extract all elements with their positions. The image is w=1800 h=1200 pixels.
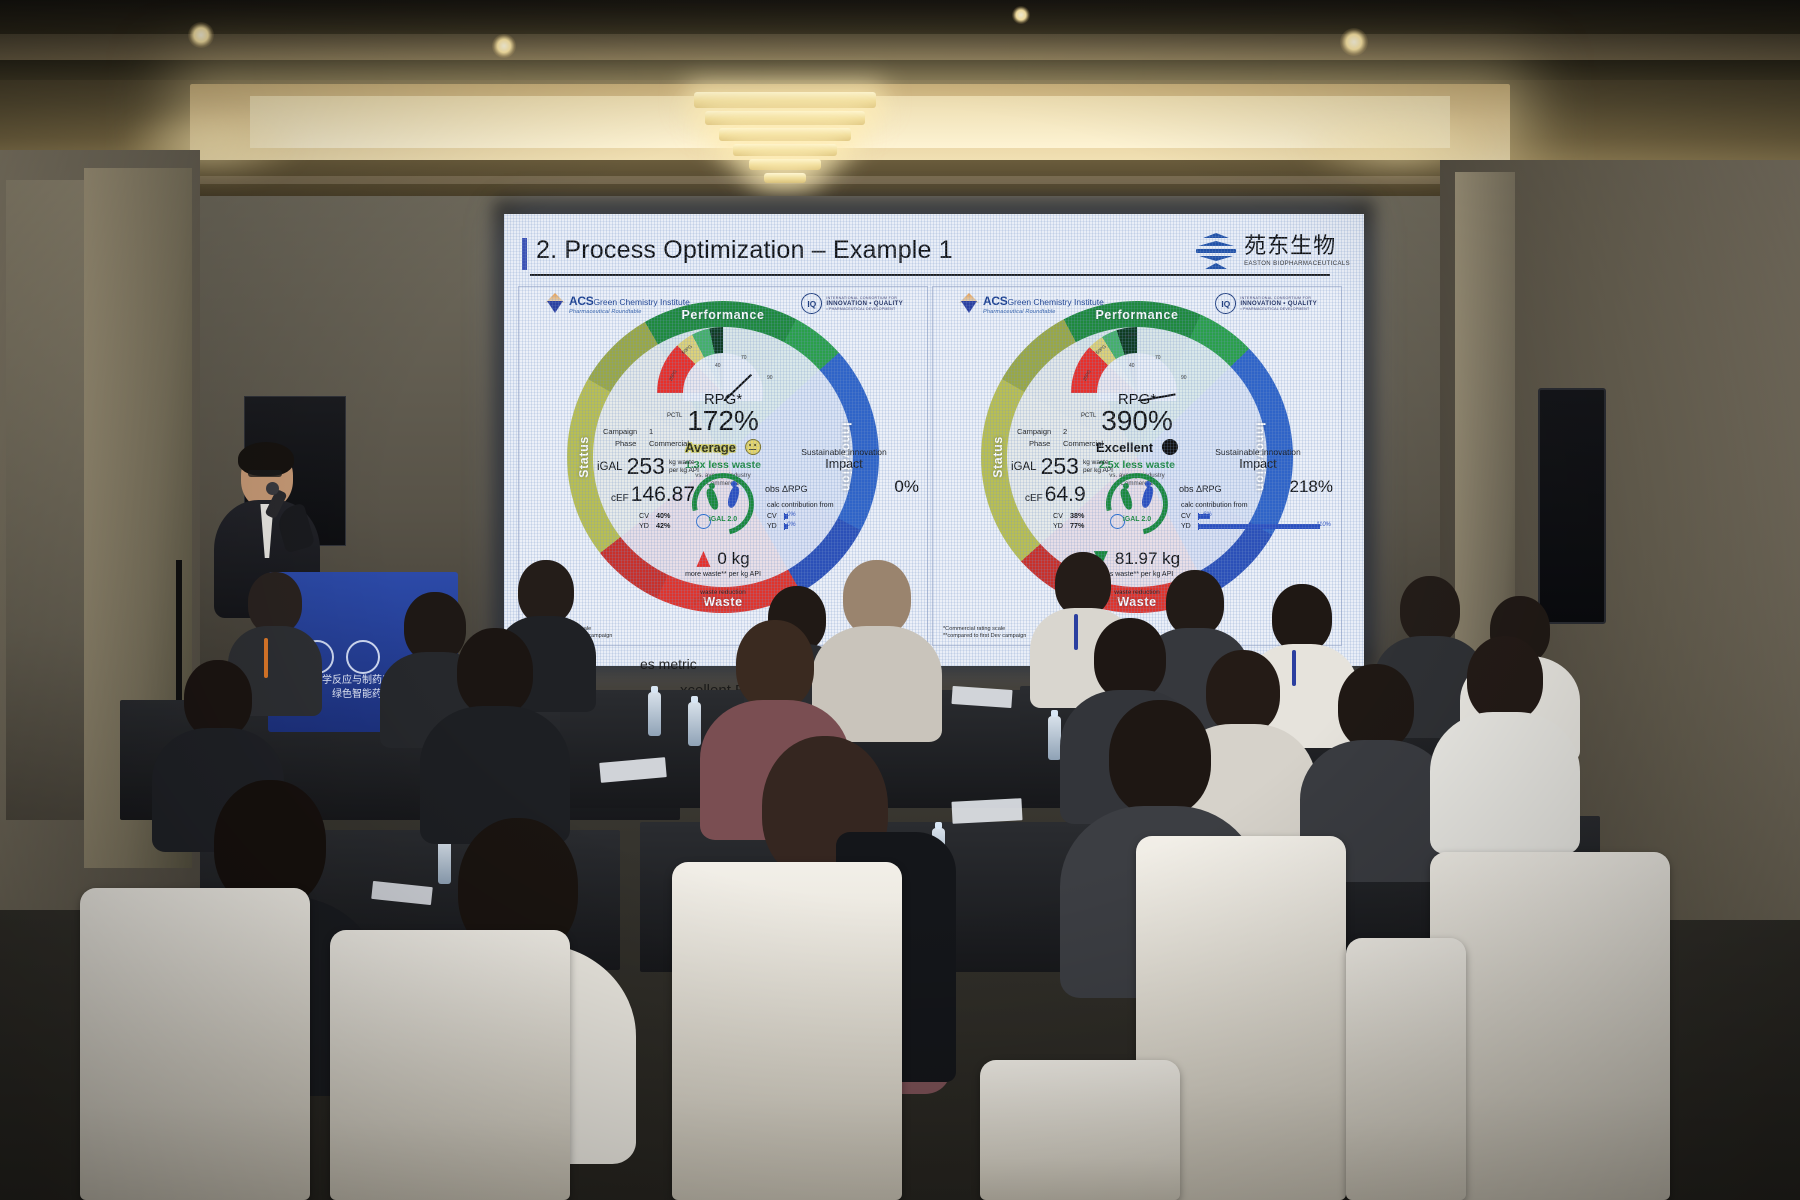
igal-2-0-logo: iGAL 2.0 bbox=[1106, 473, 1168, 535]
phase-value: Commercial bbox=[649, 439, 689, 448]
impact-title: Sustainable innovation Impact bbox=[1183, 447, 1333, 472]
waste-reduction: waste reduction 0% bbox=[695, 589, 752, 605]
cv-value: 38% bbox=[1070, 511, 1084, 520]
phase-label: Phase bbox=[1029, 439, 1050, 448]
acs-line1: ACS bbox=[983, 294, 1007, 308]
igal-metric: iGAL 253 kg waste per kg API bbox=[597, 455, 699, 478]
rpg-gauge: 25PG 50PG 75PG 40 70 90 bbox=[1071, 327, 1203, 401]
yd-value: 77% bbox=[1070, 521, 1084, 530]
company-name-en: EASTON BIOPHARMACEUTICALS bbox=[1244, 261, 1350, 267]
acs-line2: Green Chemistry Institute bbox=[1007, 297, 1103, 307]
gauge-number: 90 bbox=[1181, 375, 1187, 381]
igal-value: 253 bbox=[627, 455, 665, 478]
arrow-up-icon bbox=[696, 551, 710, 567]
ring-label-performance: Performance bbox=[681, 308, 764, 322]
campaign-label: Campaign bbox=[1017, 427, 1051, 436]
slide-overflow-text-1: es metric bbox=[640, 656, 697, 672]
side-monitor bbox=[1538, 388, 1606, 624]
iq-consortium-logo: IQ INTERNATIONAL CONSORTIUM FOR INNOVATI… bbox=[1215, 293, 1317, 314]
calc-yd-value: 110% bbox=[1316, 522, 1331, 528]
rpg-pctl-label: PCTL bbox=[1081, 413, 1096, 419]
cv-yd-metrics: CV 38% YD 77% bbox=[1053, 511, 1084, 532]
title-accent-bar bbox=[522, 238, 527, 270]
cef-label: cEF bbox=[1025, 493, 1043, 504]
rating-badge: Excellent bbox=[1096, 439, 1178, 455]
igal-unit-1: kg waste bbox=[669, 459, 695, 466]
impact-title-2: Impact bbox=[769, 457, 919, 472]
obs-drpg-value: 0% bbox=[894, 477, 919, 497]
presentation-room-photo: 2. Process Optimization – Example 1 苑东生物… bbox=[0, 0, 1800, 1200]
acs-gci-logo: ACSGreen Chemistry Institute Pharmaceuti… bbox=[959, 293, 1104, 316]
calc-yd-label: YD bbox=[1181, 523, 1195, 530]
acs-line3: Pharmaceutical Roundtable bbox=[569, 310, 690, 316]
calc-cv-label: CV bbox=[1181, 513, 1195, 520]
igal-metric: iGAL 253 kg waste per kg API bbox=[1011, 455, 1113, 478]
iq-consortium-logo: IQ INTERNATIONAL CONSORTIUM FOR INNOVATI… bbox=[801, 293, 903, 314]
water-bottle bbox=[648, 692, 661, 736]
impact-title-1: Sustainable innovation bbox=[769, 447, 919, 457]
ceiling-band bbox=[0, 60, 1800, 80]
footnote-2: **compared to first Dev campaign bbox=[943, 633, 1026, 641]
ceiling-spotlight bbox=[492, 34, 516, 58]
rpg-value: 172% bbox=[687, 405, 759, 437]
cv-yd-metrics: CV 40% YD 42% bbox=[639, 511, 670, 532]
slide-title: 2. Process Optimization – Example 1 bbox=[536, 236, 953, 265]
waste-reduction-label: waste reduction bbox=[695, 589, 752, 596]
calc-yd-value: 0% bbox=[787, 522, 796, 528]
ceiling-band bbox=[0, 34, 1800, 60]
cv-label: CV bbox=[1053, 511, 1068, 521]
audience-chair bbox=[672, 862, 902, 1200]
acs-diamond-icon bbox=[545, 293, 565, 313]
campaign-value: 1 bbox=[649, 427, 653, 436]
igal2-label: iGAL 2.0 bbox=[692, 516, 754, 523]
calc-header: calc contribution from bbox=[767, 501, 917, 510]
calc-cv-value: 0% bbox=[787, 512, 796, 518]
igal-2-0-logo: iGAL 2.0 bbox=[692, 473, 754, 535]
calc-cv-label: CV bbox=[767, 513, 781, 520]
impact-title-2: Impact bbox=[1183, 457, 1333, 472]
ceiling-spotlight bbox=[188, 22, 214, 48]
gauge-number: 90 bbox=[767, 375, 773, 381]
acs-line2: Green Chemistry Institute bbox=[593, 297, 689, 307]
igal2-label: iGAL 2.0 bbox=[1106, 516, 1168, 523]
audience-chair bbox=[80, 888, 310, 1200]
acs-gci-logo: ACSGreen Chemistry Institute Pharmaceuti… bbox=[545, 293, 690, 316]
ceiling-spotlight bbox=[1340, 28, 1368, 56]
cef-label: cEF bbox=[611, 493, 629, 504]
filled-circle-icon bbox=[1162, 439, 1178, 455]
iq-circle-icon: IQ bbox=[1215, 293, 1236, 314]
company-logo: 苑东生物 EASTON BIOPHARMACEUTICALS bbox=[1195, 230, 1350, 272]
audience-chair bbox=[1430, 852, 1670, 1200]
rpg-gauge: 25PG 50PG 75PG 40 70 90 bbox=[657, 327, 789, 401]
yd-value: 42% bbox=[656, 521, 670, 530]
waste-delta-value: 0 kg bbox=[717, 549, 749, 569]
waste-delta-sub: more waste** per kg API bbox=[685, 571, 761, 578]
igal-value: 253 bbox=[1041, 455, 1079, 478]
calc-cv-value: -6% bbox=[1201, 512, 1212, 518]
obs-drpg-value: 218% bbox=[1290, 477, 1333, 497]
ring-label-performance: Performance bbox=[1095, 308, 1178, 322]
footnote-1: *Commercial rating scale bbox=[943, 626, 1026, 634]
title-divider bbox=[530, 274, 1330, 276]
iq-line3: • PHARMACEUTICAL DEVELOPMENT bbox=[1240, 307, 1317, 311]
left-wall-panel bbox=[6, 180, 84, 820]
audience-chair bbox=[330, 930, 570, 1200]
rating-text: Excellent bbox=[1096, 440, 1153, 455]
obs-drpg-row: obs ΔRPG 218% bbox=[1179, 477, 1333, 497]
calc-yd-label: YD bbox=[767, 523, 781, 530]
impact-title-1: Sustainable innovation bbox=[1183, 447, 1333, 457]
rpg-pctl-label: PCTL bbox=[667, 413, 682, 419]
gauge-number: 40 bbox=[715, 363, 721, 369]
acs-line1: ACS bbox=[569, 294, 593, 308]
cef-value: 64.9 bbox=[1045, 483, 1086, 507]
neutral-face-icon bbox=[745, 439, 761, 455]
calc-contribution: calc contribution from CV -6% YD 110% bbox=[1181, 501, 1331, 530]
audience-chair bbox=[980, 1060, 1180, 1200]
impact-title: Sustainable innovation Impact bbox=[769, 447, 919, 472]
yd-label: YD bbox=[1053, 521, 1068, 531]
iq-circle-icon: IQ bbox=[801, 293, 822, 314]
obs-drpg-label: obs ΔRPG bbox=[1179, 484, 1222, 494]
yd-label: YD bbox=[639, 521, 654, 531]
cef-metric: cEF 146.87 bbox=[611, 483, 695, 507]
campaign-label: Campaign bbox=[603, 427, 637, 436]
rating-text: Average bbox=[685, 440, 736, 455]
chandelier bbox=[690, 92, 880, 197]
ceiling-band bbox=[0, 0, 1800, 34]
ceiling-spotlight bbox=[1012, 6, 1030, 24]
obs-drpg-row: obs ΔRPG 0% bbox=[765, 477, 919, 497]
igal-label: iGAL bbox=[597, 461, 623, 473]
ring-label-status: Status bbox=[577, 436, 591, 478]
cef-value: 146.87 bbox=[631, 483, 695, 507]
iq-line2: INNOVATION • QUALITY bbox=[826, 300, 903, 307]
calc-contribution: calc contribution from CV 0% YD 0% bbox=[767, 501, 917, 530]
cef-metric: cEF 64.9 bbox=[1025, 483, 1086, 507]
campaign-value: 2 bbox=[1063, 427, 1067, 436]
rpg-value: 390% bbox=[1101, 405, 1173, 437]
ring-label-status: Status bbox=[991, 436, 1005, 478]
phase-label: Phase bbox=[615, 439, 636, 448]
audience-member bbox=[420, 628, 570, 838]
gauge-number: 70 bbox=[1155, 355, 1161, 361]
gauge-number: 70 bbox=[741, 355, 747, 361]
calc-header: calc contribution from bbox=[1181, 501, 1331, 510]
company-name-cn: 苑东生物 bbox=[1244, 236, 1350, 258]
sichuan-university-logo-icon bbox=[346, 640, 380, 674]
gauge-number: 40 bbox=[1129, 363, 1135, 369]
paper-sheet bbox=[951, 798, 1022, 824]
waste-reduction-value: 0% bbox=[698, 597, 707, 603]
rating-badge: Average bbox=[685, 439, 761, 455]
acs-line3: Pharmaceutical Roundtable bbox=[983, 310, 1104, 316]
obs-drpg-label: obs ΔRPG bbox=[765, 484, 808, 494]
phase-value: Commercial bbox=[1063, 439, 1103, 448]
footnotes: *Commercial rating scale **compared to f… bbox=[943, 626, 1026, 641]
snowflake-logo-icon bbox=[1195, 230, 1237, 272]
cv-label: CV bbox=[639, 511, 654, 521]
igal-label: iGAL bbox=[1011, 461, 1037, 473]
cv-value: 40% bbox=[656, 511, 670, 520]
iq-line3: • PHARMACEUTICAL DEVELOPMENT bbox=[826, 307, 903, 311]
iq-line2: INNOVATION • QUALITY bbox=[1240, 300, 1317, 307]
acs-diamond-icon bbox=[959, 293, 979, 313]
audience-member bbox=[1430, 636, 1580, 846]
waste-delta: 0 kg bbox=[696, 549, 749, 569]
audience-chair bbox=[1346, 938, 1466, 1200]
igal-unit-1: kg waste bbox=[1083, 459, 1109, 466]
